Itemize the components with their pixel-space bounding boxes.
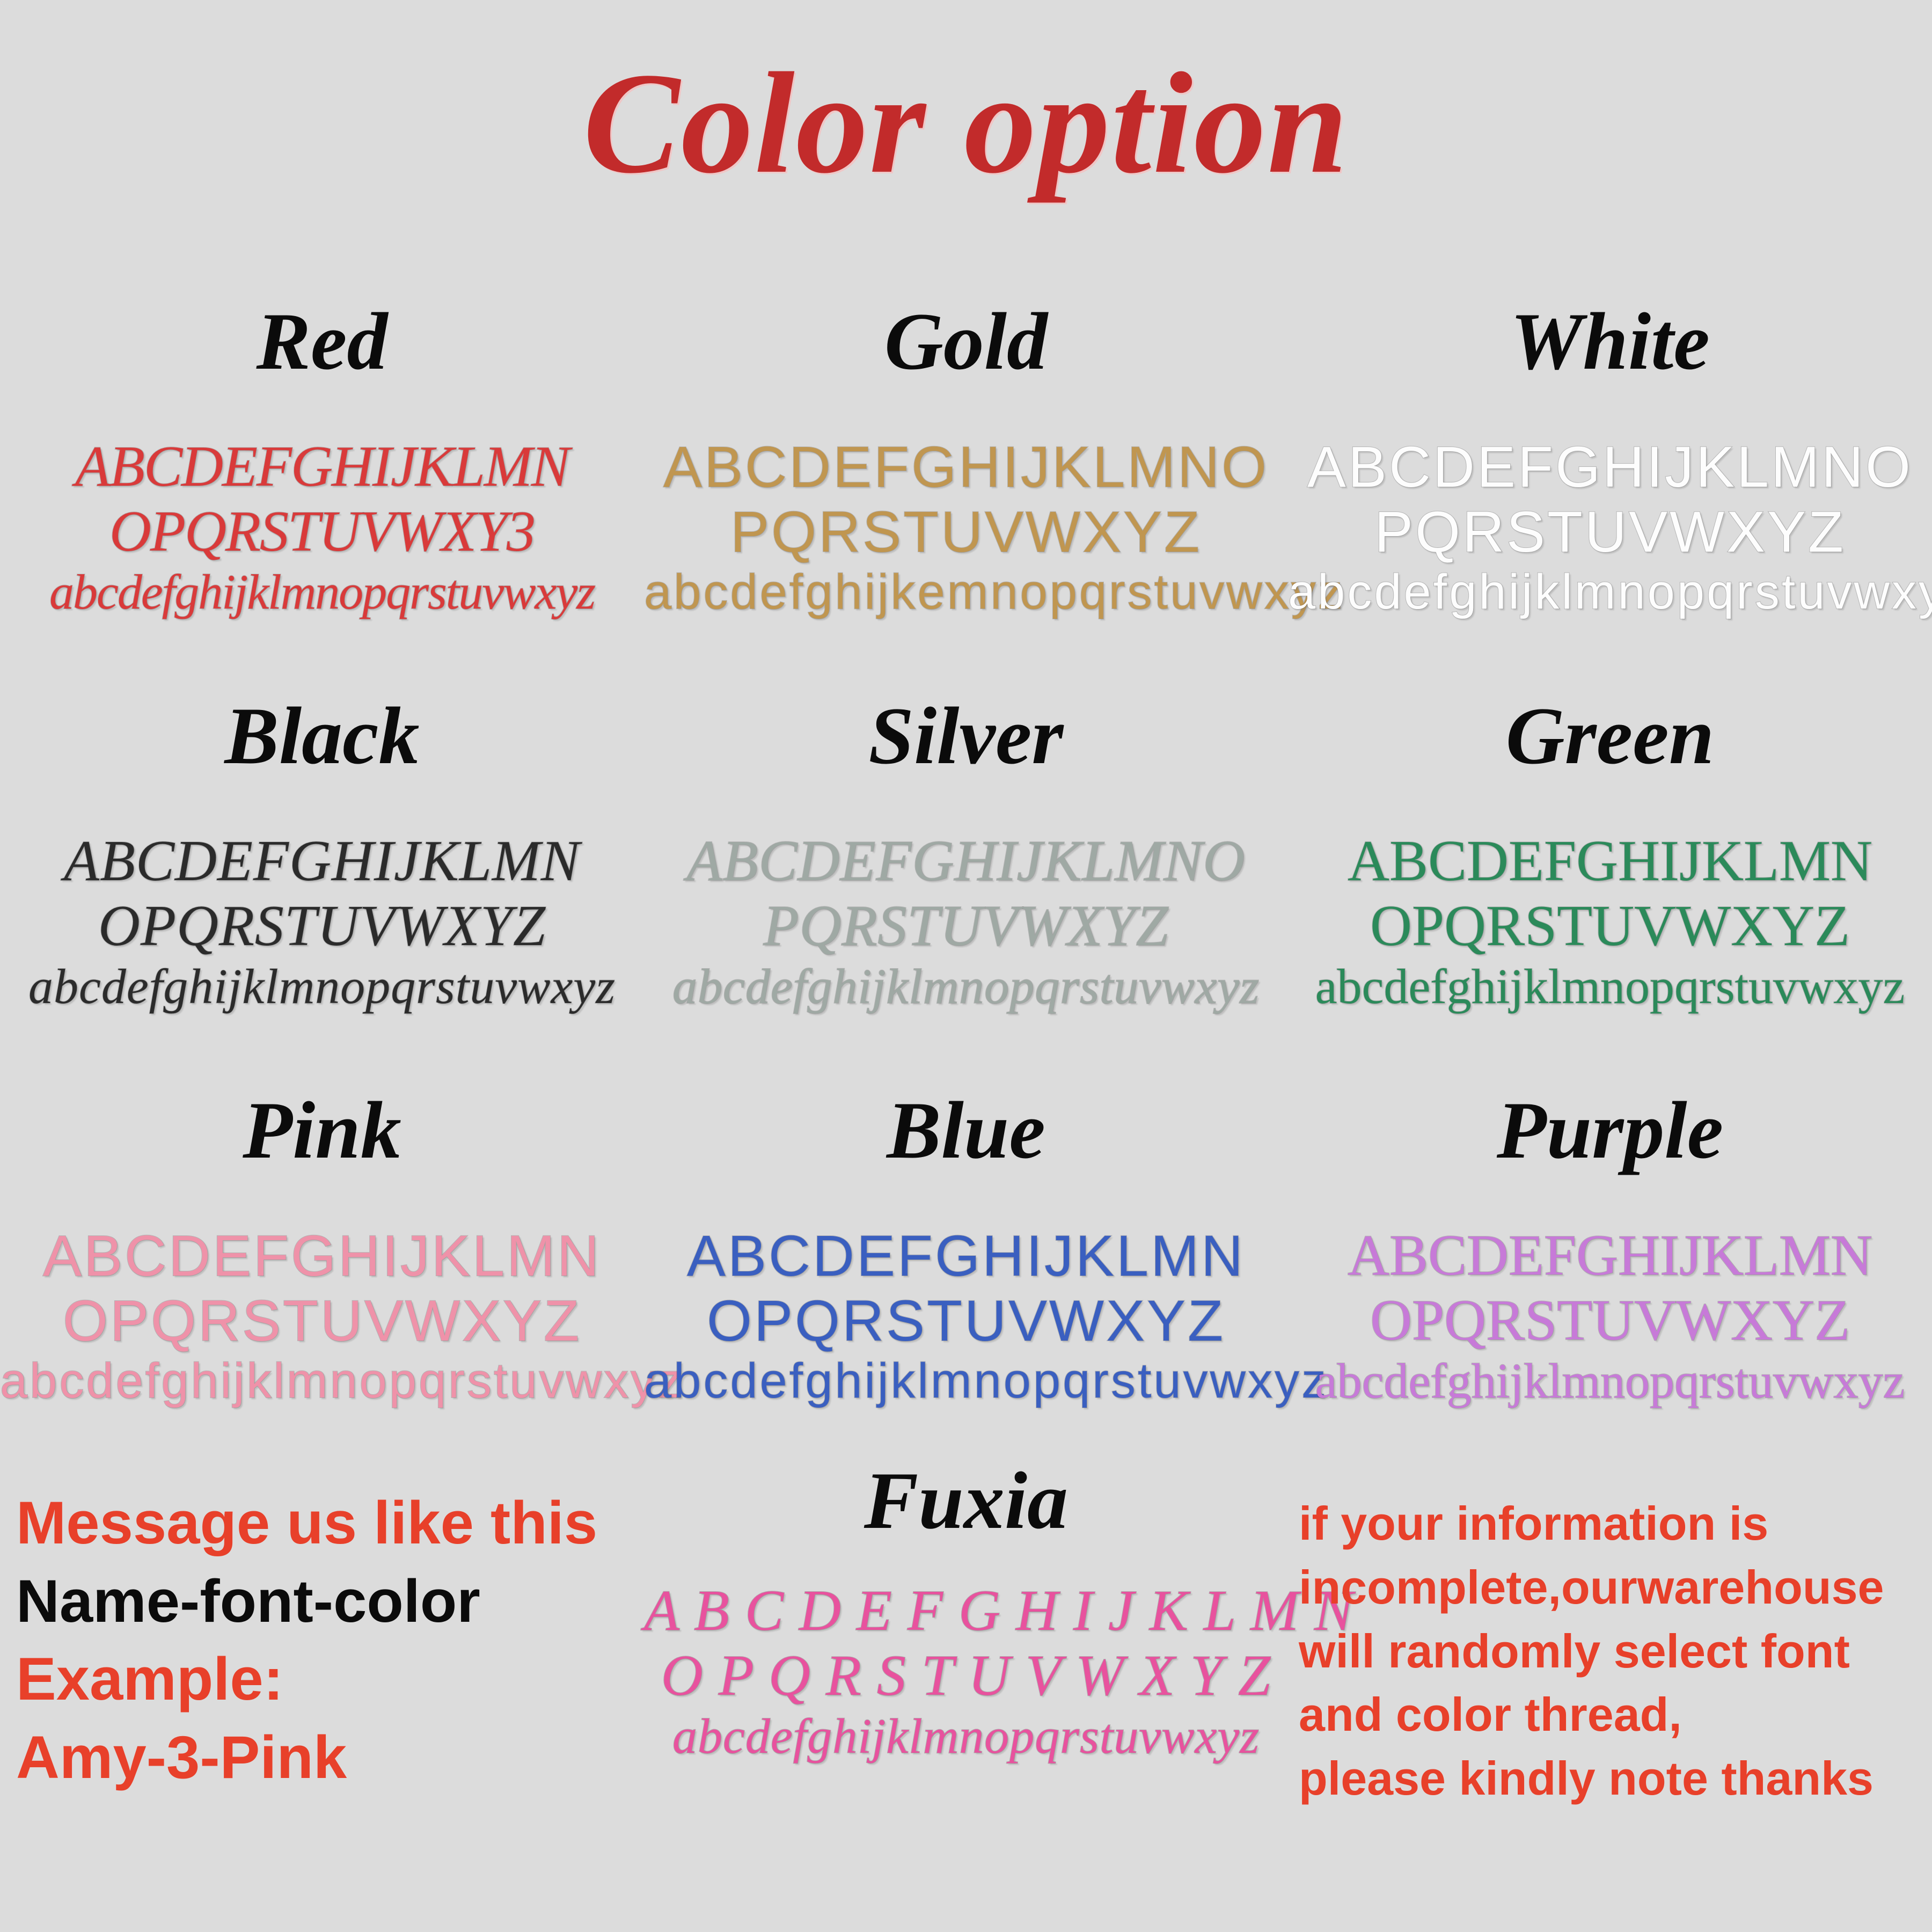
note-line-4: and color thread, xyxy=(1299,1683,1932,1747)
color-swatch-grid: Red ABCDEFGHIJKLMN OPQRSTUVWXY3 abcdefgh… xyxy=(0,301,1932,1484)
alphabet-line-lower: abcdefghijklmnopqrstuvwxyz xyxy=(644,1709,1288,1764)
swatch-name-white: White xyxy=(1288,301,1932,382)
alphabet-line-upper-1: ABCDEFGHIJKLMNO xyxy=(644,829,1288,894)
swatch-green[interactable]: Green ABCDEFGHIJKLMN OPQRSTUVWXYZ abcdef… xyxy=(1288,695,1932,1089)
alphabet-line-lower: abcdefghijklmnopqrstuvwxyz xyxy=(0,565,644,620)
instruction-line-3: Example: xyxy=(16,1640,660,1718)
order-note-right: if your information is incomplete,ourwar… xyxy=(1299,1492,1932,1811)
alphabet-line-lower: abcdefghijklmnopqrstuvwxyz xyxy=(0,959,644,1014)
alphabet-line-upper-1: ABCDEFGHIJKLMN xyxy=(644,1224,1288,1289)
swatch-name-silver: Silver xyxy=(644,695,1288,777)
alphabet-line-lower: abcdefghijklmnopqrstuvwxyz xyxy=(1288,565,1932,620)
swatch-fuxia[interactable]: Fuxia A B C D E F G H I J K L M N O P Q … xyxy=(644,1460,1288,1764)
alphabet-line-upper-1: ABCDEFGHIJKLMNO xyxy=(1288,435,1932,500)
alphabet-line-upper-2: O P Q R S T U V W X Y Z xyxy=(644,1644,1288,1709)
alphabet-line-upper-2: OPQRSTUVWXYZ xyxy=(644,1289,1288,1353)
swatch-pink[interactable]: Pink ABCDEFGHIJKLMN OPQRSTUVWXYZ abcdefg… xyxy=(0,1089,644,1484)
swatch-red[interactable]: Red ABCDEFGHIJKLMN OPQRSTUVWXY3 abcdefgh… xyxy=(0,301,644,695)
alphabet-line-upper-2: OPQRSTUVWXYZ xyxy=(0,1289,644,1353)
instruction-line-1: Message us like this xyxy=(16,1484,660,1562)
alphabet-line-upper-1: ABCDEFGHIJKLMN xyxy=(0,435,644,500)
instruction-line-2: Name-font-color xyxy=(16,1562,660,1641)
alphabet-sample-green: ABCDEFGHIJKLMN OPQRSTUVWXYZ abcdefghijkl… xyxy=(1288,829,1932,1014)
alphabet-line-upper-2: OPQRSTUVWXYZ xyxy=(1288,894,1932,959)
swatch-name-black: Black xyxy=(0,695,644,777)
alphabet-sample-pink: ABCDEFGHIJKLMN OPQRSTUVWXYZ abcdefghijkl… xyxy=(0,1224,644,1409)
alphabet-line-upper-2: OPQRSTUVWXYZ xyxy=(1288,1289,1932,1353)
alphabet-sample-purple: ABCDEFGHIJKLMN OPQRSTUVWXYZ abcdefghijkl… xyxy=(1288,1224,1932,1409)
note-line-1: if your information is xyxy=(1299,1492,1932,1556)
alphabet-line-upper-2: PQRSTUVWXYZ xyxy=(1288,500,1932,565)
alphabet-line-upper-1: A B C D E F G H I J K L M N xyxy=(644,1579,1288,1644)
swatch-black[interactable]: Black ABCDEFGHIJKLMN OPQRSTUVWXYZ abcdef… xyxy=(0,695,644,1089)
alphabet-line-upper-1: ABCDEFGHIJKLMN xyxy=(0,829,644,894)
alphabet-sample-black: ABCDEFGHIJKLMN OPQRSTUVWXYZ abcdefghijkl… xyxy=(0,829,644,1014)
swatch-name-gold: Gold xyxy=(644,301,1288,382)
alphabet-sample-silver: ABCDEFGHIJKLMNO PQRSTUVWXYZ abcdefghijkl… xyxy=(644,829,1288,1014)
swatch-name-fuxia: Fuxia xyxy=(644,1460,1288,1541)
swatch-blue[interactable]: Blue ABCDEFGHIJKLMN OPQRSTUVWXYZ abcdefg… xyxy=(644,1089,1288,1484)
alphabet-line-upper-1: ABCDEFGHIJKLMN xyxy=(0,1224,644,1289)
swatch-gold[interactable]: Gold ABCDEFGHIJKLMNO PQRSTUVWXYZ abcdefg… xyxy=(644,301,1288,695)
alphabet-sample-gold: ABCDEFGHIJKLMNO PQRSTUVWXYZ abcdefghijke… xyxy=(644,435,1288,620)
alphabet-line-upper-2: OPQRSTUVWXY3 xyxy=(0,500,644,565)
alphabet-line-lower: abcdefghijklmnopqrstuvwxyz xyxy=(644,1353,1288,1409)
swatch-name-red: Red xyxy=(0,301,644,382)
alphabet-line-lower: abcdefghijklmnopqrstuvwxyz xyxy=(0,1353,644,1409)
alphabet-sample-fuxia: A B C D E F G H I J K L M N O P Q R S T … xyxy=(644,1579,1288,1764)
alphabet-sample-white: ABCDEFGHIJKLMNO PQRSTUVWXYZ abcdefghijkl… xyxy=(1288,435,1932,620)
order-instructions-left: Message us like this Name-font-color Exa… xyxy=(16,1484,660,1796)
alphabet-line-lower: abcdefghijklmnopqrstuvwxyz xyxy=(1288,959,1932,1014)
swatch-name-purple: Purple xyxy=(1288,1089,1932,1171)
alphabet-line-upper-2: OPQRSTUVWXYZ xyxy=(0,894,644,959)
swatch-purple[interactable]: Purple ABCDEFGHIJKLMN OPQRSTUVWXYZ abcde… xyxy=(1288,1089,1932,1484)
note-line-5: please kindly note thanks xyxy=(1299,1747,1932,1811)
alphabet-sample-red: ABCDEFGHIJKLMN OPQRSTUVWXY3 abcdefghijkl… xyxy=(0,435,644,620)
alphabet-line-upper-2: PQRSTUVWXYZ xyxy=(644,894,1288,959)
swatch-name-pink: Pink xyxy=(0,1089,644,1171)
alphabet-line-lower: abcdefghijkemnopqrstuvwxyz xyxy=(644,565,1288,620)
instruction-line-4: Amy-3-Pink xyxy=(16,1718,660,1797)
color-option-poster: Color option Red ABCDEFGHIJKLMN OPQRSTUV… xyxy=(0,0,1932,1932)
alphabet-line-upper-1: ABCDEFGHIJKLMN xyxy=(1288,1224,1932,1289)
alphabet-line-upper-2: PQRSTUVWXYZ xyxy=(644,500,1288,565)
note-line-3: will randomly select font xyxy=(1299,1620,1932,1684)
alphabet-line-lower: abcdefghijklmnopqrstuvwxyz xyxy=(1288,1353,1932,1409)
swatch-silver[interactable]: Silver ABCDEFGHIJKLMNO PQRSTUVWXYZ abcde… xyxy=(644,695,1288,1089)
alphabet-line-lower: abcdefghijklmnopqrstuvwxyz xyxy=(644,959,1288,1014)
alphabet-line-upper-1: ABCDEFGHIJKLMN xyxy=(1288,829,1932,894)
swatch-white[interactable]: White ABCDEFGHIJKLMNO PQRSTUVWXYZ abcdef… xyxy=(1288,301,1932,695)
note-line-2: incomplete,ourwarehouse xyxy=(1299,1556,1932,1620)
alphabet-line-upper-1: ABCDEFGHIJKLMNO xyxy=(644,435,1288,500)
swatch-name-green: Green xyxy=(1288,695,1932,777)
alphabet-sample-blue: ABCDEFGHIJKLMN OPQRSTUVWXYZ abcdefghijkl… xyxy=(644,1224,1288,1409)
swatch-name-blue: Blue xyxy=(644,1089,1288,1171)
page-title: Color option xyxy=(0,51,1932,196)
